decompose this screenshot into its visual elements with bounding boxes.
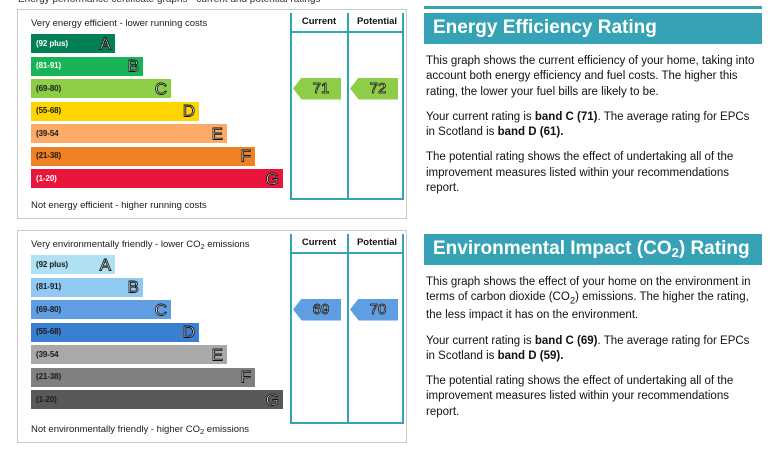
energy-band-list: (92 plus)A(81-91)B(69-80)C(55-68)D(39-54… bbox=[31, 34, 283, 192]
band-row-e: (39-54E bbox=[31, 124, 227, 143]
band-letter-b: B bbox=[128, 279, 139, 296]
band-range-f: (21-38) bbox=[31, 373, 61, 381]
band-range-f: (21-38) bbox=[31, 152, 61, 160]
co2-current-band-text: band C (69) bbox=[535, 335, 598, 347]
band-range-c: (69-80) bbox=[31, 85, 61, 93]
band-row-f: (21-38)F bbox=[31, 368, 255, 387]
co2-info-panel: Environmental Impact (CO2) Rating This g… bbox=[424, 234, 762, 420]
environmental-impact-chart: Very environmentally friendly - lower CO… bbox=[17, 230, 407, 443]
clipped-teal-band bbox=[424, 6, 762, 9]
band-letter-d: D bbox=[183, 103, 195, 120]
energy-current-rating-value: 71 bbox=[305, 81, 330, 96]
energy-col-divider-left bbox=[290, 13, 292, 200]
co2-caption-bottom: Not environmentally friendly - higher CO… bbox=[31, 424, 249, 435]
co2-panel-paragraph-1: This graph shows the effect of your home… bbox=[426, 275, 762, 324]
band-letter-e: E bbox=[212, 125, 223, 142]
co2-caption-top-pre: Very environmentally friendly - lower CO bbox=[31, 239, 200, 250]
co2-panel-paragraph-3: The potential rating shows the effect of… bbox=[426, 374, 762, 420]
band-letter-b: B bbox=[128, 58, 139, 75]
co2-col-divider-mid bbox=[347, 234, 349, 424]
energy-efficiency-chart: Very energy efficient - lower running co… bbox=[17, 9, 407, 219]
band-letter-f: F bbox=[241, 148, 251, 165]
band-row-d: (55-68)D bbox=[31, 102, 199, 121]
band-letter-g: G bbox=[266, 391, 279, 408]
band-row-c: (69-80)C bbox=[31, 79, 171, 98]
band-row-g: (1-20)G bbox=[31, 390, 283, 409]
co2-col-divider-right bbox=[402, 234, 404, 424]
band-row-g: (1-20)G bbox=[31, 169, 283, 188]
co2-p2-part-a: Your current rating is bbox=[426, 335, 535, 347]
energy-current-rating-marker: 71 bbox=[293, 78, 341, 100]
band-letter-a: A bbox=[100, 35, 111, 52]
co2-title-sub: 2 bbox=[672, 245, 679, 260]
energy-col-divider-mid bbox=[347, 13, 349, 200]
band-range-c: (69-80) bbox=[31, 306, 61, 314]
band-letter-c: C bbox=[155, 301, 167, 318]
band-range-e: (39-54 bbox=[31, 351, 59, 359]
band-row-c: (69-80)C bbox=[31, 300, 171, 319]
energy-panel-title: Energy Efficiency Rating bbox=[424, 13, 762, 44]
co2-title-pre: Environmental Impact (CO bbox=[433, 238, 672, 259]
co2-potential-header: Potential bbox=[348, 237, 406, 248]
band-row-b: (81-91)B bbox=[31, 57, 143, 76]
energy-panel-paragraph-3: The potential rating shows the effect of… bbox=[426, 150, 762, 196]
co2-current-rating-value: 69 bbox=[305, 302, 330, 317]
co2-caption-bottom-sub: 2 bbox=[200, 427, 204, 436]
band-range-b: (81-91) bbox=[31, 283, 61, 291]
band-letter-c: C bbox=[155, 80, 167, 97]
co2-caption-bottom-pre: Not environmentally friendly - higher CO bbox=[31, 424, 200, 435]
band-row-e: (39-54E bbox=[31, 345, 227, 364]
clipped-header-strip: Energy performance certificate graphs - … bbox=[0, 0, 773, 9]
energy-caption-bottom: Not energy efficient - higher running co… bbox=[31, 200, 207, 211]
energy-current-header: Current bbox=[290, 16, 348, 27]
co2-band-list: (92 plus)A(81-91)B(69-80)C(55-68)D(39-54… bbox=[31, 255, 283, 413]
energy-current-band-text: band C (71) bbox=[535, 111, 598, 123]
band-range-b: (81-91) bbox=[31, 62, 61, 70]
energy-potential-rating-marker: 72 bbox=[350, 78, 398, 100]
band-row-a: (92 plus)A bbox=[31, 255, 115, 274]
band-range-d: (55-68) bbox=[31, 107, 61, 115]
energy-rating-columns: Current Potential 71 72 bbox=[290, 10, 407, 218]
co2-panel-paragraph-2: Your current rating is band C (69). The … bbox=[426, 334, 762, 365]
band-range-d: (55-68) bbox=[31, 328, 61, 336]
energy-average-band-text: band D (61). bbox=[498, 126, 564, 138]
band-letter-f: F bbox=[241, 369, 251, 386]
band-row-f: (21-38)F bbox=[31, 147, 255, 166]
co2-rating-columns: Current Potential 69 70 bbox=[290, 231, 407, 442]
energy-caption-top: Very energy efficient - lower running co… bbox=[31, 18, 207, 29]
energy-panel-paragraph-1: This graph shows the current efficiency … bbox=[426, 54, 762, 100]
co2-caption-top: Very environmentally friendly - lower CO… bbox=[31, 239, 250, 250]
co2-panel-title: Environmental Impact (CO2) Rating bbox=[424, 234, 762, 265]
band-row-b: (81-91)B bbox=[31, 278, 143, 297]
band-letter-a: A bbox=[100, 256, 111, 273]
co2-caption-top-sub: 2 bbox=[200, 242, 204, 251]
co2-title-post: ) Rating bbox=[679, 238, 750, 259]
energy-potential-rating-value: 72 bbox=[362, 81, 387, 96]
band-range-g: (1-20) bbox=[31, 175, 57, 183]
band-letter-e: E bbox=[212, 346, 223, 363]
band-range-g: (1-20) bbox=[31, 396, 57, 404]
band-range-a: (92 plus) bbox=[31, 261, 68, 269]
energy-potential-header: Potential bbox=[348, 16, 406, 27]
energy-info-panel: Energy Efficiency Rating This graph show… bbox=[424, 13, 762, 196]
co2-caption-bottom-post: emissions bbox=[204, 424, 249, 435]
energy-panel-paragraph-2: Your current rating is band C (71). The … bbox=[426, 110, 762, 141]
co2-col-divider-left bbox=[290, 234, 292, 424]
co2-current-header: Current bbox=[290, 237, 348, 248]
clipped-header-text: Energy performance certificate graphs - … bbox=[18, 0, 320, 5]
band-letter-d: D bbox=[183, 324, 195, 341]
energy-col-divider-right bbox=[402, 13, 404, 200]
co2-current-rating-marker: 69 bbox=[293, 299, 341, 321]
band-range-e: (39-54 bbox=[31, 130, 59, 138]
band-range-a: (92 plus) bbox=[31, 40, 68, 48]
co2-average-band-text: band D (59). bbox=[498, 350, 564, 362]
co2-caption-top-post: emissions bbox=[205, 239, 250, 250]
band-row-a: (92 plus)A bbox=[31, 34, 115, 53]
co2-potential-rating-marker: 70 bbox=[350, 299, 398, 321]
band-letter-g: G bbox=[266, 170, 279, 187]
band-row-d: (55-68)D bbox=[31, 323, 199, 342]
co2-potential-rating-value: 70 bbox=[362, 302, 387, 317]
energy-p2-part-a: Your current rating is bbox=[426, 111, 535, 123]
